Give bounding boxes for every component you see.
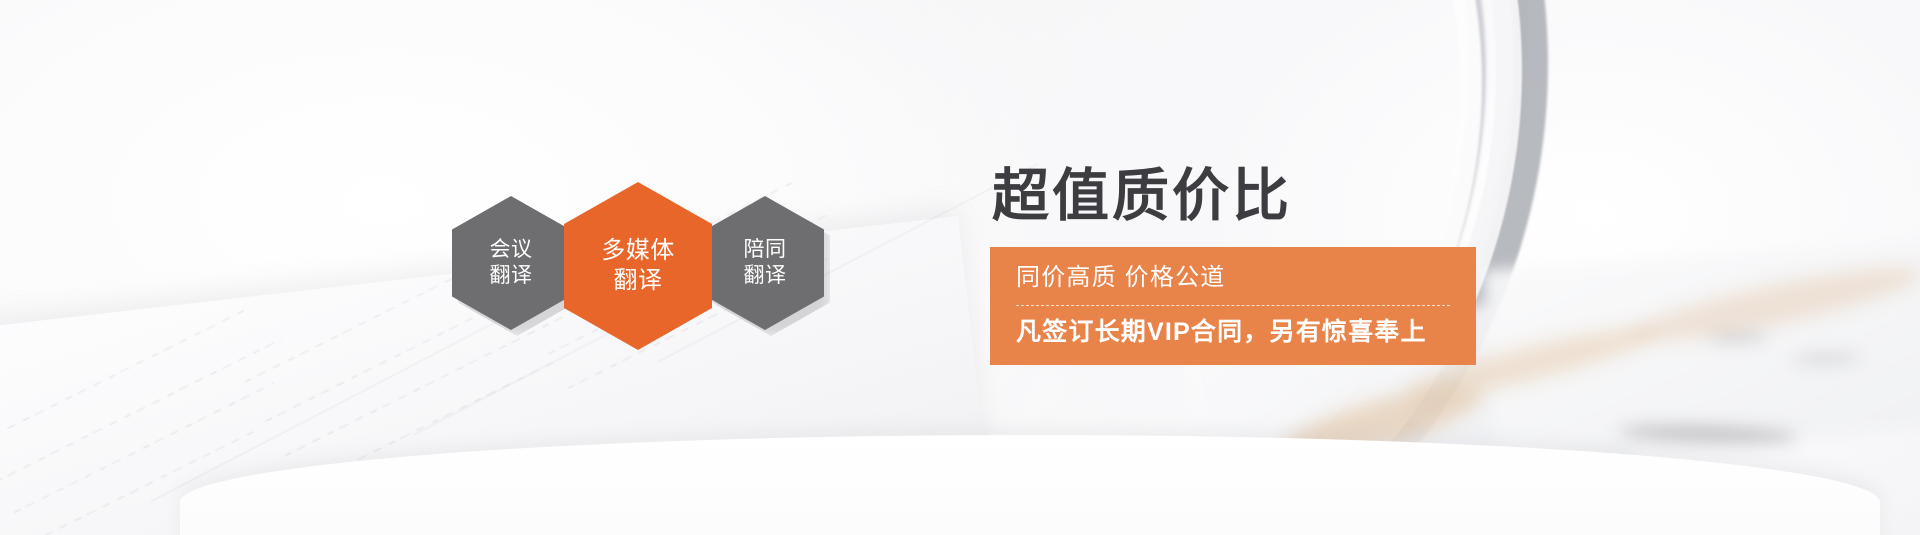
hexagon-escort-line2: 翻译	[744, 263, 787, 289]
promo-box: 同价高质 价格公道 凡签订长期VIP合同，另有惊喜奉上	[990, 247, 1476, 365]
promo-banner: 会议 翻译 多媒体 翻译 陪同 翻译 超值质价比 同价高质 价格公道 凡签订长期…	[0, 0, 1920, 535]
hexagon-escort-line1: 陪同	[744, 237, 787, 263]
promo-dashed-divider	[1016, 305, 1450, 306]
promo-line-1: 同价高质 价格公道	[990, 261, 1476, 296]
hexagon-multimedia-translation[interactable]: 多媒体 翻译	[564, 182, 712, 350]
hexagon-conference-line2: 翻译	[490, 263, 533, 289]
service-hexagon-cluster: 会议 翻译 多媒体 翻译 陪同 翻译	[452, 182, 872, 342]
promo-line-2: 凡签订长期VIP合同，另有惊喜奉上	[990, 314, 1476, 350]
hexagon-multimedia-line1: 多媒体	[601, 236, 675, 266]
hexagon-conference-line1: 会议	[490, 237, 533, 263]
hexagon-multimedia-line2: 翻译	[614, 266, 663, 296]
banner-headline: 超值质价比	[992, 168, 1510, 225]
background-photo-layer	[0, 0, 1920, 535]
banner-copy-block: 超值质价比 同价高质 价格公道 凡签订长期VIP合同，另有惊喜奉上	[990, 168, 1510, 365]
